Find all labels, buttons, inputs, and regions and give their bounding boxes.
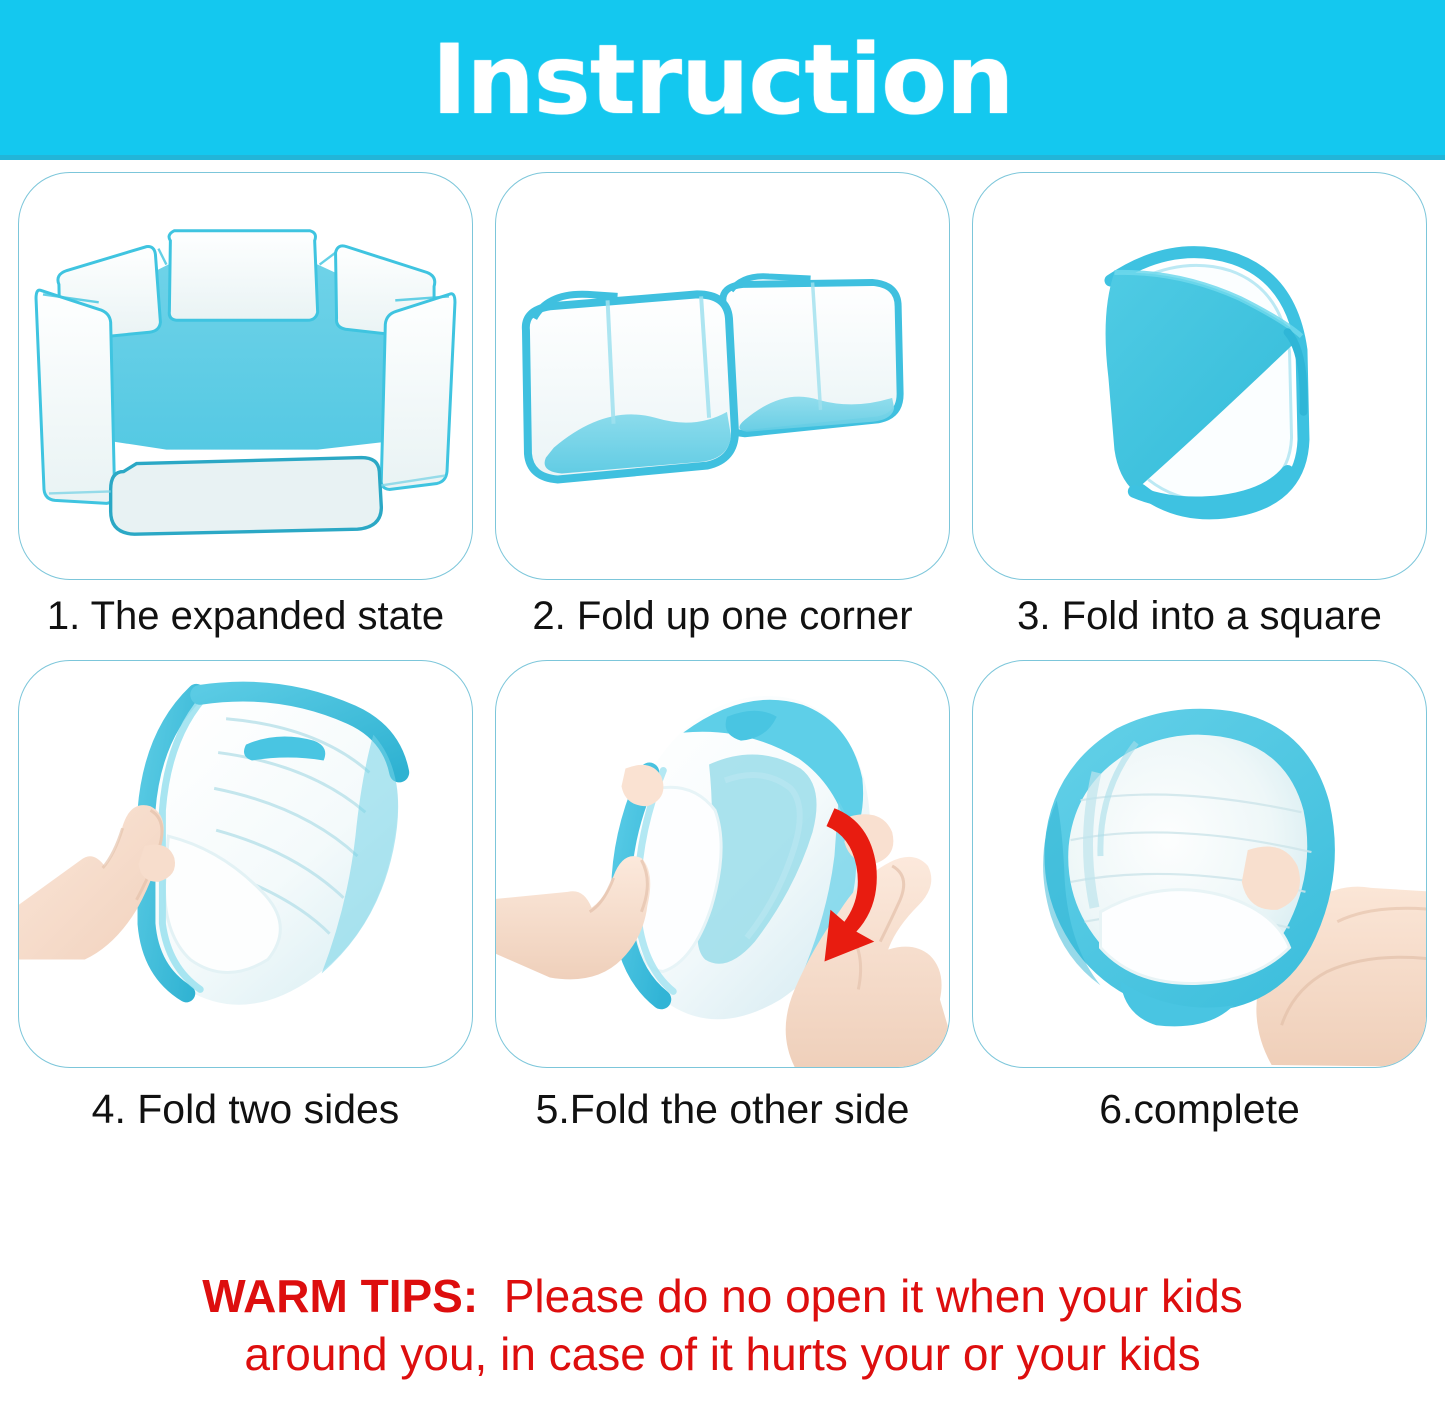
warm-tips-warning: WARM TIPS: Please do no open it when you… [0,1268,1445,1383]
step-caption-6: 6.complete [972,1086,1427,1133]
step-caption-5: 5.Fold the other side [495,1086,950,1133]
step-cell-4: 4. Fold two sides [18,660,473,1133]
step-cell-3: 3. Fold into a square [972,172,1427,638]
step-panel-1[interactable] [18,172,473,580]
step-panel-5[interactable] [495,660,950,1068]
step-cell-6: 6.complete [972,660,1427,1133]
step-cell-1: 1. The expanded state [18,172,473,638]
step-cell-5: 5.Fold the other side [495,660,950,1133]
step-panel-3[interactable] [972,172,1427,580]
playpen-folded-square-illustration [973,173,1426,579]
steps-row-1: 1. The expanded state [0,172,1445,638]
step-panel-6[interactable] [972,660,1427,1068]
hand-folding-two-sides-illustration [19,661,472,1067]
steps-row-2: 4. Fold two sides [0,660,1445,1133]
header-underline [0,155,1445,160]
step-panel-4[interactable] [18,660,473,1068]
step-caption-4: 4. Fold two sides [18,1086,473,1133]
header-banner: Instruction [0,0,1445,155]
warning-label: WARM TIPS: [202,1270,478,1322]
warning-text-1: Please do no open it when your kids [504,1270,1243,1322]
warning-line-1: WARM TIPS: Please do no open it when you… [30,1268,1415,1326]
playpen-expanded-hexagon-illustration [19,173,472,579]
hand-holding-completed-disc-illustration [973,661,1426,1067]
two-hands-folding-other-side-illustration [496,661,949,1067]
step-caption-2: 2. Fold up one corner [495,594,950,638]
step-cell-2: 2. Fold up one corner [495,172,950,638]
playpen-one-corner-folded-illustration [496,173,949,579]
step-caption-1: 1. The expanded state [18,594,473,638]
step-caption-3: 3. Fold into a square [972,594,1427,638]
warning-line-2: around you, in case of it hurts your or … [30,1326,1415,1384]
step-panel-2[interactable] [495,172,950,580]
steps-grid: 1. The expanded state [0,172,1445,1133]
page-title: Instruction [432,32,1014,128]
